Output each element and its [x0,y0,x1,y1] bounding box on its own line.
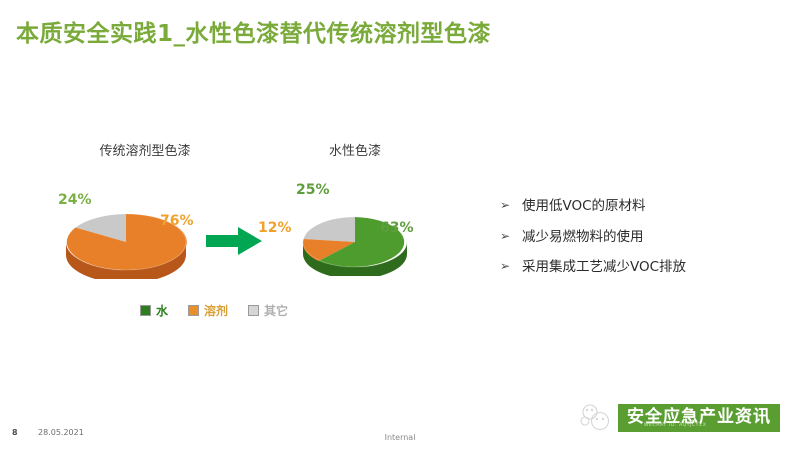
slide-canvas: 本质安全实践1_水性色漆替代传统溶剂型色漆 传统溶剂型色漆 水性色漆 24% 7… [0,0,800,450]
list-item: ➢ 采用集成工艺减少VOC排放 [500,259,780,277]
bullet-text: 使用低VOC的原材料 [522,198,646,216]
legend-swatch-solvent [188,305,199,316]
list-item: ➢ 减少易燃物料的使用 [500,229,780,247]
watermark-banner: 安全应急产业资讯 WECHAT ID: AQYJCYZX [618,404,780,432]
chart-area: 传统溶剂型色漆 水性色漆 24% 76% [0,130,470,340]
list-item: ➢ 使用低VOC的原材料 [500,198,780,216]
pie-chart-waterborne [300,208,410,276]
bullet-list: ➢ 使用低VOC的原材料 ➢ 减少易燃物料的使用 ➢ 采用集成工艺减少VOC排放 [500,198,780,290]
pie-chart-waterborne-svg [300,208,410,276]
legend-label-solvent: 溶剂 [204,302,228,319]
bullet-text: 减少易燃物料的使用 [522,229,644,247]
bullet-arrow-icon: ➢ [500,259,522,275]
legend-swatch-other [248,305,259,316]
legend-item-water: 水 [140,302,168,319]
watermark: 安全应急产业资讯 WECHAT ID: AQYJCYZX [578,398,780,438]
pie-label-left-solvent: 76% [160,213,194,229]
chart-title-left: 传统溶剂型色漆 [70,140,220,159]
pie-label-left-other: 24% [58,192,92,208]
pie-label-right-other: 25% [296,182,330,198]
legend-item-other: 其它 [248,302,288,319]
transition-arrow-icon [206,226,262,256]
bullet-text: 采用集成工艺减少VOC排放 [522,259,686,277]
pie-label-right-solvent: 12% [258,220,292,236]
legend-item-solvent: 溶剂 [188,302,228,319]
page-title: 本质安全实践1_水性色漆替代传统溶剂型色漆 [16,14,491,48]
legend-swatch-water [140,305,151,316]
legend-label-other: 其它 [264,302,288,319]
watermark-subtitle: WECHAT ID: AQYJCYZX [644,423,706,428]
bullet-arrow-icon: ➢ [500,229,522,245]
chart-title-right: 水性色漆 [300,140,410,159]
chart-legend: 水 溶剂 其它 [140,302,288,319]
bullet-arrow-icon: ➢ [500,198,522,214]
pie-label-right-water: 63% [380,220,414,236]
wechat-cloud-icon [578,401,614,435]
legend-label-water: 水 [156,302,168,319]
